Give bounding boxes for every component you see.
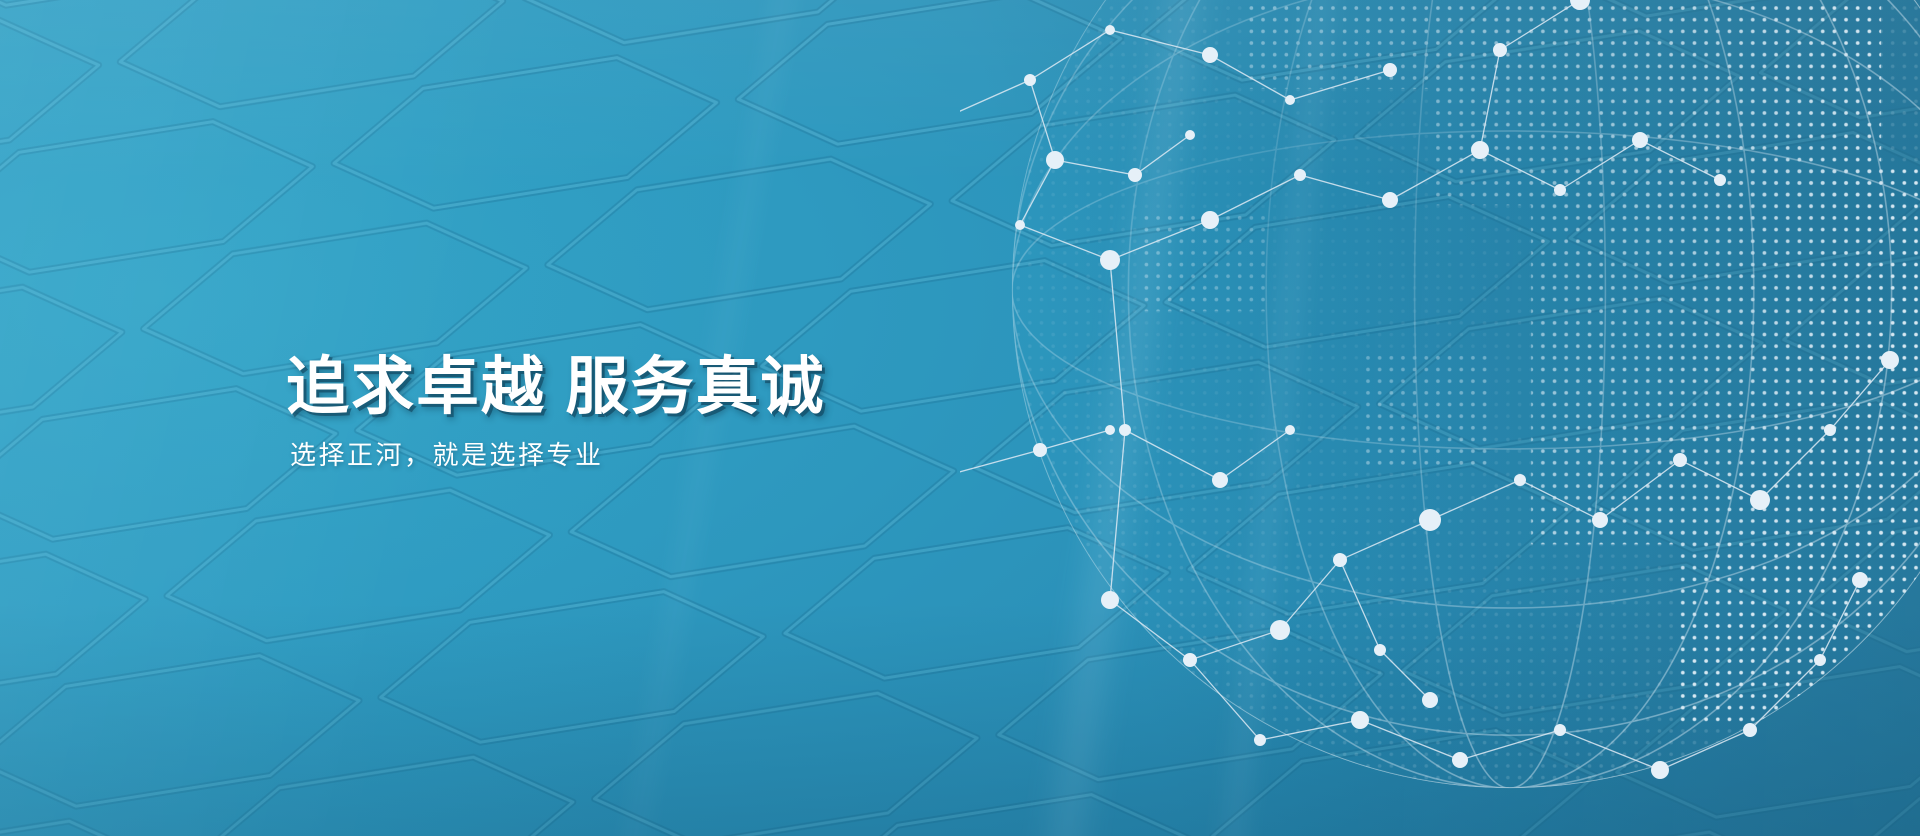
hero-copy: 追求卓越 服务真诚 选择正河，就是选择专业 (286, 352, 826, 472)
page-title: 追求卓越 服务真诚 (286, 352, 826, 423)
hero-banner: 追求卓越 服务真诚 选择正河，就是选择专业 (0, 0, 1920, 836)
page-subtitle: 选择正河，就是选择专业 (290, 439, 826, 473)
